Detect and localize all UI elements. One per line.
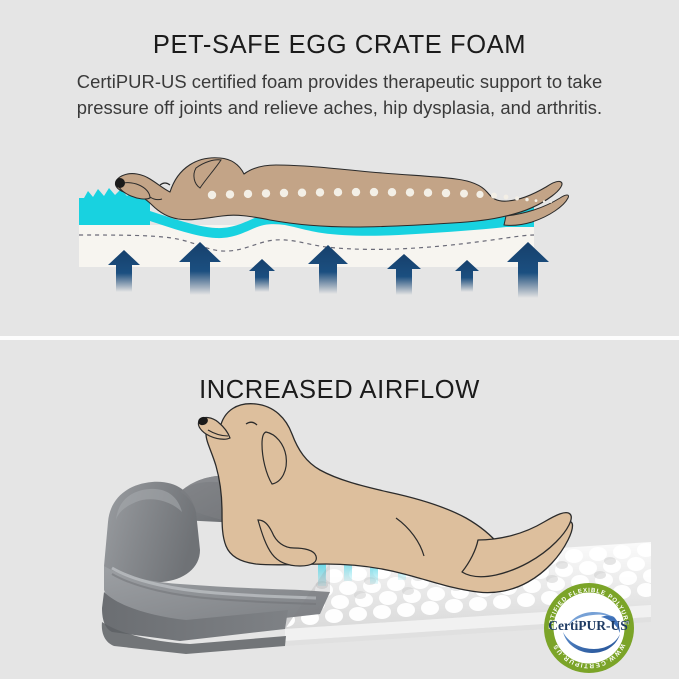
dog-nose-icon bbox=[115, 178, 125, 188]
panel-pet-safe-egg-crate-foam: PET-SAFE EGG CRATE FOAM CertiPUR-US cert… bbox=[0, 0, 679, 337]
panel1-subtitle-line1: CertiPUR-US certified foam provides ther… bbox=[22, 69, 657, 95]
base-foam-layer bbox=[79, 225, 534, 267]
dog-on-bed bbox=[197, 404, 573, 593]
panel1-subtitle: CertiPUR-US certified foam provides ther… bbox=[22, 69, 657, 121]
panel1-subtitle-line2: pressure off joints and relieve aches, h… bbox=[22, 95, 657, 121]
svg-text:CertiPUR-US: CertiPUR-US bbox=[548, 618, 627, 633]
dog-lying-on-foam-cross-section bbox=[0, 132, 679, 332]
panel1-title: PET-SAFE EGG CRATE FOAM bbox=[0, 31, 679, 60]
panel-increased-airflow: INCREASED AIRFLOW bbox=[0, 340, 679, 679]
certipur-us-badge: CONTAINS CERTIFIED FLEXIBLE POLYURETHANE… bbox=[542, 581, 636, 675]
product-infographic: PET-SAFE EGG CRATE FOAM CertiPUR-US cert… bbox=[0, 0, 679, 679]
badge-brand-text: CertiPUR-US ® bbox=[548, 618, 630, 633]
svg-text:®: ® bbox=[626, 619, 630, 626]
